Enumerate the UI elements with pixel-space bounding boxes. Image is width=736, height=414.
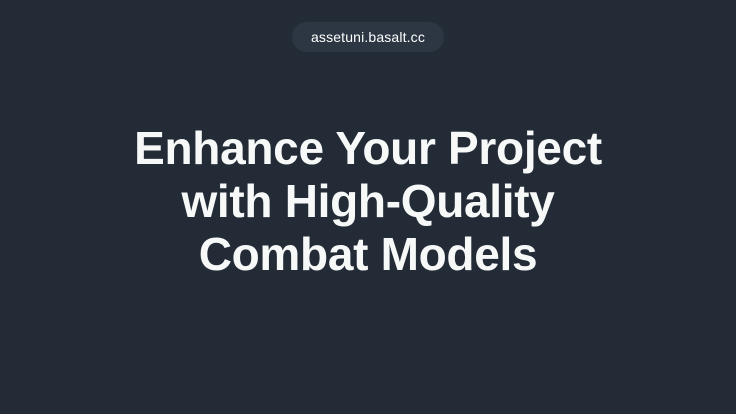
headline-line-1: Enhance Your Project xyxy=(40,122,696,175)
hero-section: assetuni.basalt.cc Enhance Your Project … xyxy=(0,0,736,414)
headline-line-2: with High-Quality xyxy=(40,175,696,228)
page-title: Enhance Your Project with High-Quality C… xyxy=(40,122,696,281)
domain-badge: assetuni.basalt.cc xyxy=(292,22,444,52)
headline-line-3: Combat Models xyxy=(40,228,696,281)
headline-block: Enhance Your Project with High-Quality C… xyxy=(0,122,736,281)
domain-badge-label: assetuni.basalt.cc xyxy=(311,30,425,44)
